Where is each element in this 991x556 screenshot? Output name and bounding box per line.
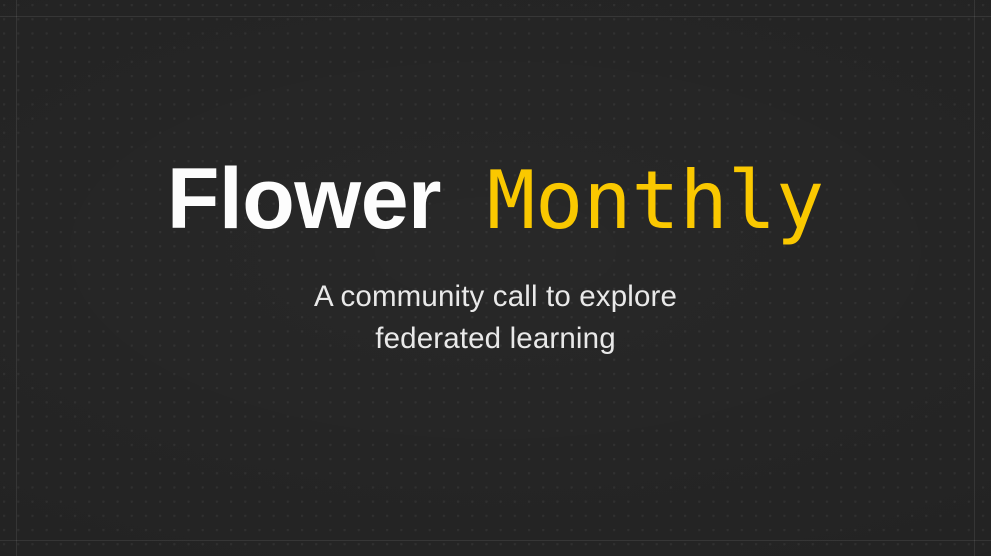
title-primary-word: Flower [167,156,441,242]
guide-line-bottom [0,540,991,541]
slide-content-area: Flower Monthly A community call to explo… [17,17,974,540]
guide-line-right [974,0,975,556]
title-slide: Flower Monthly A community call to explo… [0,0,991,556]
subtitle-line-2: federated learning [314,318,677,360]
subtitle-line-1: A community call to explore [314,276,677,318]
title-accent-word: Monthly [487,161,824,241]
slide-title: Flower Monthly [167,156,824,242]
slide-subtitle: A community call to explore federated le… [314,276,677,360]
